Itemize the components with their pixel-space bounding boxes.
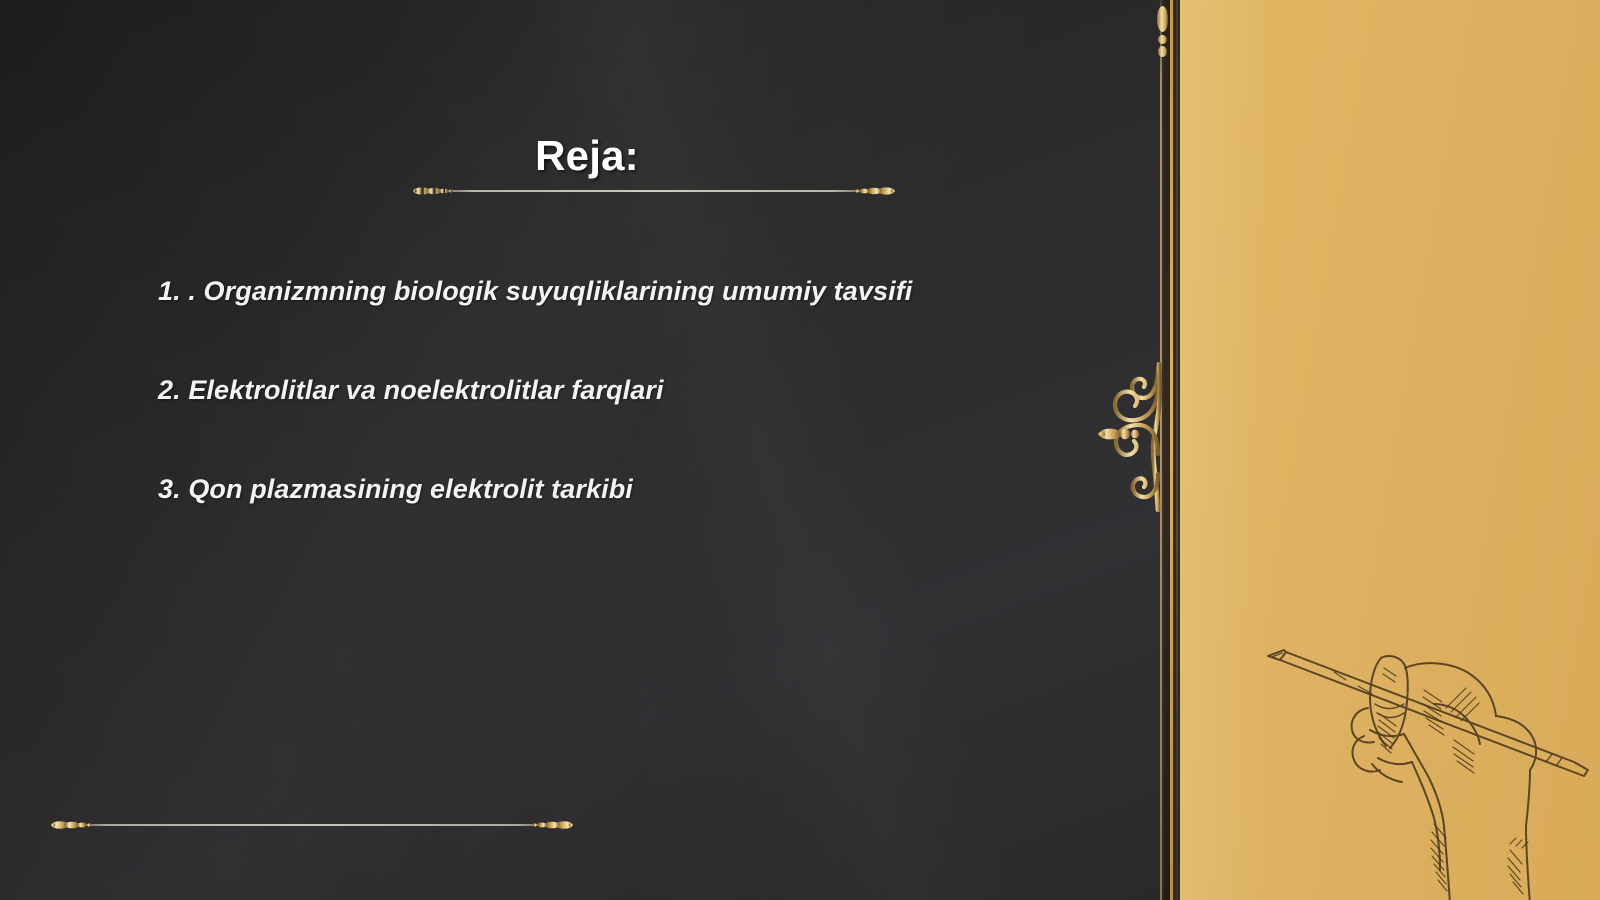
bead-large bbox=[1157, 6, 1168, 32]
divider-bar bbox=[56, 824, 568, 826]
presentation-slide: Reja: bbox=[0, 0, 1600, 900]
divider-left-ornament-icon bbox=[50, 818, 98, 832]
divider-right-ornament-icon bbox=[848, 184, 896, 198]
list-item: 3. Qon plazmasining elektrolit tarkibi bbox=[158, 474, 1118, 505]
divider-bar bbox=[418, 190, 890, 192]
page-title: Reja: bbox=[0, 132, 1174, 180]
bottom-divider bbox=[56, 818, 568, 832]
bead-small-upper bbox=[1158, 35, 1167, 44]
list-item: 2. Elektrolitlar va noelektrolitlar farq… bbox=[158, 375, 1118, 406]
agenda-list: 1. . Organizmning biologik suyuqliklarin… bbox=[158, 276, 1118, 505]
divider-right-ornament-icon bbox=[526, 818, 574, 832]
title-divider bbox=[418, 184, 890, 198]
hand-holding-pencil-icon bbox=[1238, 612, 1594, 900]
bead-ornament-icon bbox=[1154, 4, 1170, 66]
divider-left-ornament-icon bbox=[412, 184, 460, 198]
list-item: 1. . Organizmning biologik suyuqliklarin… bbox=[158, 276, 1118, 307]
bead-small-lower bbox=[1158, 46, 1167, 57]
